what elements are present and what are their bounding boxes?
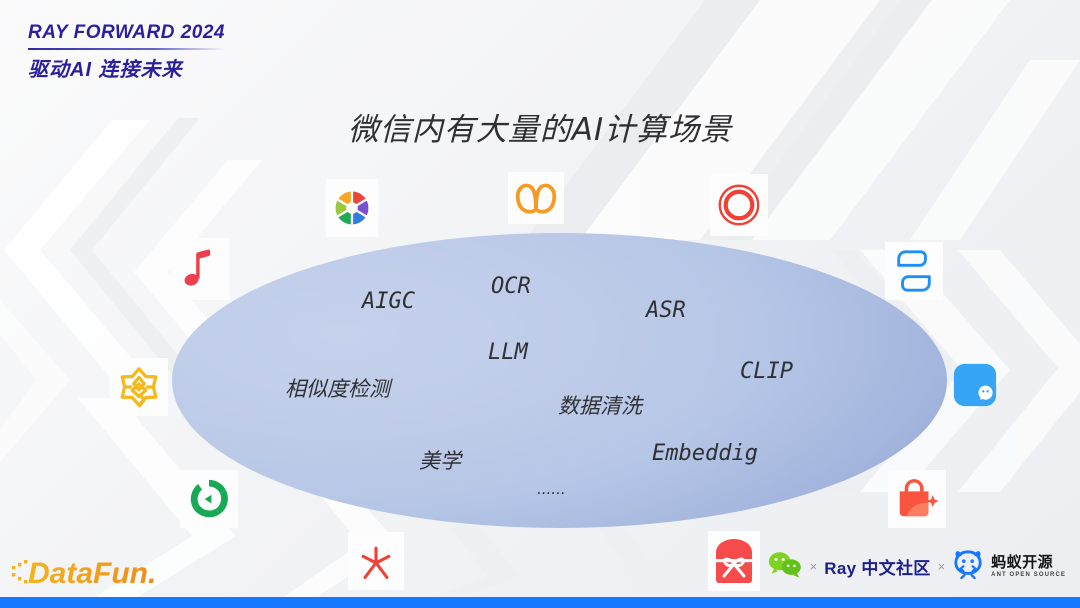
datafun-logo: DataFun. [10,552,188,592]
ray-community-label: Ray 中文社区 [824,554,930,579]
brand-title-en: RAY FORWARD 2024 [28,22,225,44]
ellipse-label: OCR [491,274,531,299]
brand-divider [28,48,225,50]
wechat-logo-icon [767,550,803,583]
ellipse-label: Embeddig [652,441,758,466]
channels-butterfly-icon [508,172,564,224]
shopping-bag-sparkle-icon [888,470,946,528]
slide-canvas: RAY FORWARD 2024 驱动AI 连接未来 微信内有大量的AI计算场景… [0,0,1080,608]
reading-star-icon [110,358,168,416]
ant-open-source-logo-icon [952,549,984,584]
ant-open-source-en: ANT OPEN SOURCE [991,572,1066,578]
music-note-icon [170,238,230,300]
ant-open-source-cn: 蚂蚁开源 [991,555,1066,570]
red-packet-icon [708,531,760,591]
live-rings-icon [710,174,768,236]
credit-separator-2: × [938,559,946,574]
ellipse-label: 数据清洗 [558,390,642,420]
credit-separator-1: × [810,559,818,574]
brand-title-cn: 驱动AI 连接未来 [28,53,225,82]
ellipse-label: ASR [646,298,686,323]
page-title: 微信内有大量的AI计算场景 [0,104,1080,149]
ellipse-label: CLIP [740,359,793,384]
footer-accent-bar [0,597,1080,608]
work-chat-icon [950,360,1000,410]
ellipse-label: LLM [488,340,528,365]
ellipse-label: AIGC [362,289,415,314]
recycle-arrows-icon [180,470,238,528]
ellipse-label: 相似度检测 [285,373,390,403]
transfer-exchange-icon [885,242,943,300]
partner-credits: × Ray 中文社区 × 蚂蚁开源 ANT OPEN SOURCE [767,549,1066,584]
ellipse-label: ...... [537,480,566,498]
ellipse-label: 美学 [419,445,461,475]
svg-text:DataFun.: DataFun. [28,557,156,590]
brand-header: RAY FORWARD 2024 驱动AI 连接未来 [28,22,225,82]
red-star-burst-icon [348,532,404,590]
camera-aperture-icon [326,179,378,237]
